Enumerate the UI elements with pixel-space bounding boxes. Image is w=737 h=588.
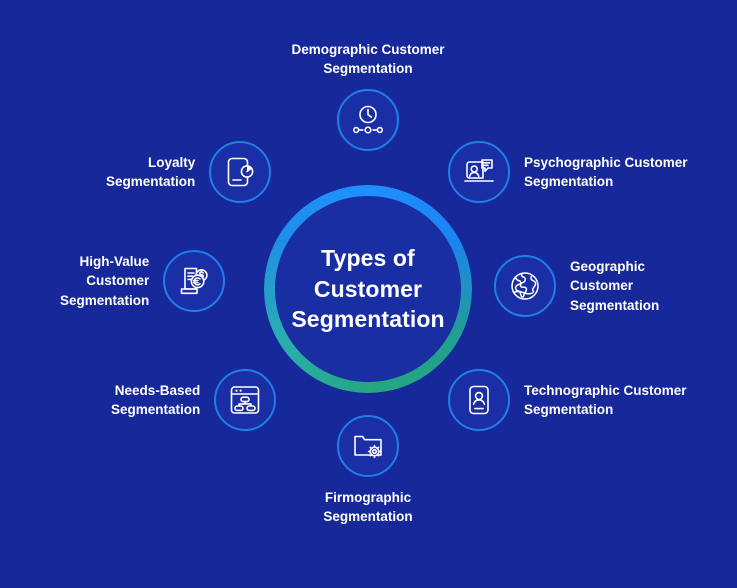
browser-org-chart-icon bbox=[227, 382, 263, 418]
node-firmographic-icon-bubble[interactable] bbox=[337, 415, 399, 477]
hub-inner-circle: Types of Customer Segmentation bbox=[275, 196, 461, 382]
node-needs-based-icon-bubble[interactable] bbox=[214, 369, 276, 431]
clock-timeline-icon bbox=[350, 102, 386, 138]
node-loyalty[interactable]: Loyalty Segmentation bbox=[106, 141, 271, 203]
node-psychographic-icon-bubble[interactable] bbox=[448, 141, 510, 203]
folder-gear-icon bbox=[350, 428, 386, 464]
node-firmographic-label: Firmographic Segmentation bbox=[243, 488, 493, 526]
globe-icon bbox=[507, 268, 543, 304]
node-firmographic[interactable]: Firmographic Segmentation bbox=[243, 415, 493, 526]
node-geographic-label: Geographic Customer Segmentation bbox=[570, 257, 659, 314]
card-pie-chart-icon bbox=[222, 154, 258, 190]
node-psychographic[interactable]: Psychographic Customer Segmentation bbox=[448, 141, 688, 203]
node-high-value-label: High-Value Customer Segmentation bbox=[60, 252, 149, 309]
node-high-value-icon-bubble[interactable] bbox=[163, 250, 225, 312]
node-needs-based[interactable]: Needs-Based Segmentation bbox=[111, 369, 276, 431]
center-hub: Types of Customer Segmentation bbox=[264, 185, 472, 393]
infographic-canvas: Types of Customer Segmentation Demograph… bbox=[0, 0, 737, 588]
node-demographic-label: Demographic Customer Segmentation bbox=[243, 40, 493, 78]
node-high-value[interactable]: High-Value Customer Segmentation bbox=[60, 250, 225, 312]
page-title: Types of Customer Segmentation bbox=[275, 243, 461, 335]
node-demographic[interactable]: Demographic Customer Segmentation bbox=[243, 40, 493, 151]
id-card-person-icon bbox=[461, 382, 497, 418]
node-loyalty-icon-bubble[interactable] bbox=[209, 141, 271, 203]
node-loyalty-label: Loyalty Segmentation bbox=[106, 153, 195, 191]
node-technographic-label: Technographic Customer Segmentation bbox=[524, 381, 687, 419]
monitor-person-chat-icon bbox=[461, 154, 497, 190]
node-geographic-icon-bubble[interactable] bbox=[494, 255, 556, 317]
node-demographic-icon-bubble[interactable] bbox=[337, 89, 399, 151]
invoice-coins-icon bbox=[176, 263, 212, 299]
node-geographic[interactable]: Geographic Customer Segmentation bbox=[494, 255, 659, 317]
node-psychographic-label: Psychographic Customer Segmentation bbox=[524, 153, 688, 191]
node-needs-based-label: Needs-Based Segmentation bbox=[111, 381, 200, 419]
